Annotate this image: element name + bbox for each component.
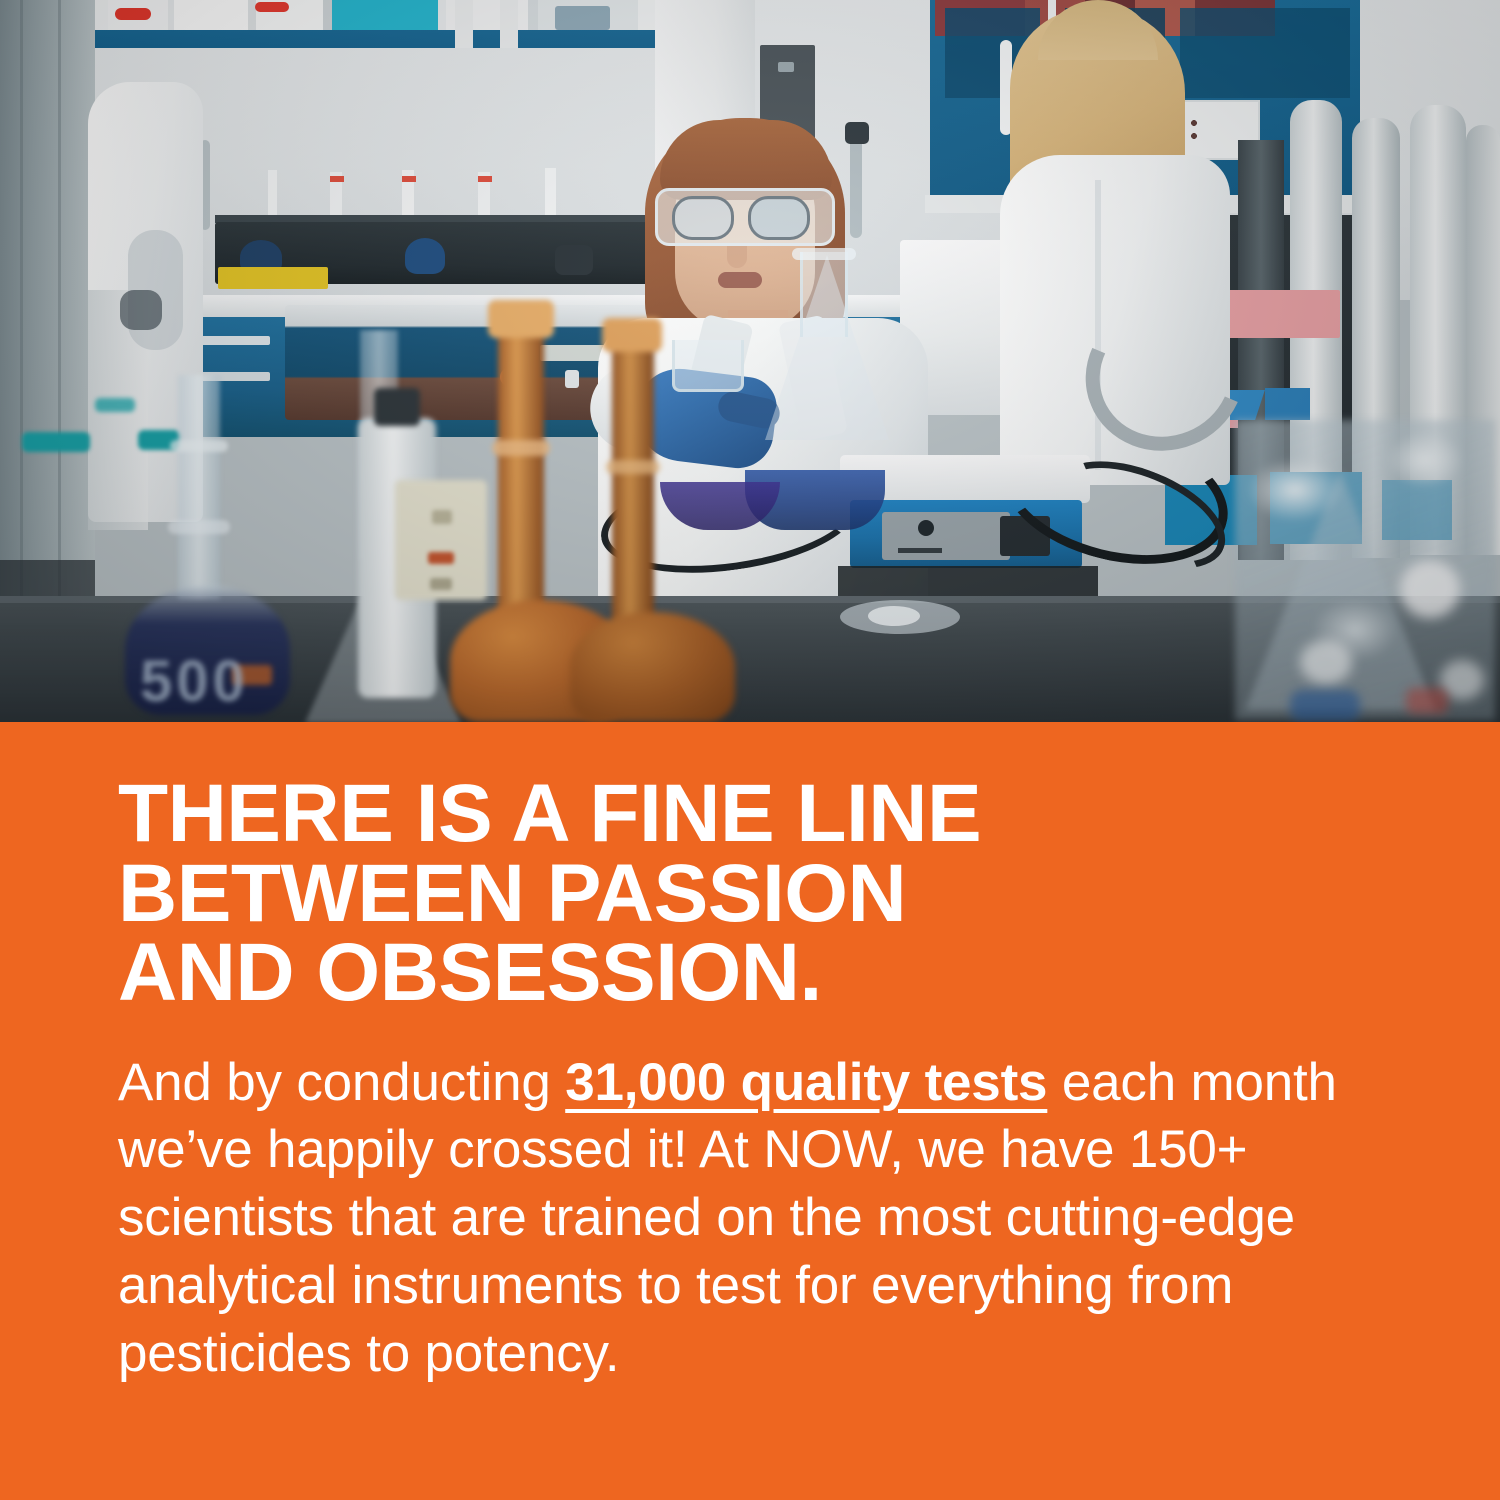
- body-copy-before: And by conducting: [118, 1053, 565, 1112]
- scientist-center-nose: [727, 244, 747, 268]
- scientist-left-glove: [120, 290, 162, 330]
- support-rod-clamp: [845, 122, 869, 144]
- instrument-platform-base: [838, 566, 1098, 596]
- instrument-switch: [565, 370, 579, 388]
- pipette-marker-3: [478, 176, 492, 182]
- support-rod-right: [850, 128, 862, 238]
- wall-socket-red-switch: [428, 552, 454, 564]
- goggle-lens-left: [672, 196, 734, 240]
- instrument-platform-dial: [918, 520, 934, 536]
- amber-flask-1-ring: [492, 440, 550, 456]
- instrument-yellow-label: [218, 267, 328, 289]
- amber-flask-2-neck: [612, 335, 654, 625]
- amber-flask-2-ring: [606, 460, 660, 474]
- teal-cap-1: [22, 432, 90, 452]
- rack-valve-3: [555, 245, 593, 275]
- red-label-2: [255, 2, 289, 12]
- shelf-tube-1: [455, 0, 473, 48]
- cabinet-glass-3: [1180, 8, 1350, 98]
- orange-content-panel: THERE IS A FINE LINE BETWEEN PASSION AND…: [0, 722, 1500, 1500]
- volumetric-flask-volume-label: 500: [140, 648, 280, 704]
- left-pillar-seam-1: [20, 0, 23, 640]
- teal-cap-3: [95, 398, 135, 412]
- wall-panel-indicator: [778, 62, 794, 72]
- wall-socket-outlet-1: [432, 510, 452, 524]
- quality-tests-highlight: 31,000 quality tests: [565, 1053, 1047, 1112]
- reagent-bottle-cap: [374, 388, 420, 426]
- pipette-marker-2: [402, 176, 416, 182]
- volumetric-flask-ring-1: [170, 440, 228, 452]
- pipette-marker-1: [330, 176, 344, 182]
- petri-dish-inner: [868, 606, 920, 626]
- erlenmeyer-neck: [800, 252, 848, 337]
- beaker: [672, 340, 744, 392]
- right-foreground-blue-cap: [1290, 690, 1360, 722]
- volumetric-flask-ring-2: [168, 520, 230, 534]
- red-label-1: [115, 8, 151, 20]
- promo-card: 500 THERE IS A FINE LINE BETWEEN PASSION…: [0, 0, 1500, 1500]
- shelf-box: [555, 6, 610, 30]
- analyzer-blue-mark: [1265, 388, 1310, 420]
- bokeh-highlight-2: [1300, 640, 1352, 684]
- body-copy: And by conducting 31,000 quality tests e…: [118, 1049, 1382, 1388]
- lab-photo: 500: [0, 0, 1500, 722]
- amber-flask-2-cap: [602, 318, 662, 352]
- wall-socket-outlet-2: [430, 578, 452, 590]
- right-foreground-red-cap: [1406, 688, 1448, 714]
- amber-flask-1-neck: [498, 320, 544, 620]
- instrument-platform-slot: [898, 548, 942, 553]
- shelf-tube-2: [500, 0, 518, 48]
- amber-flask-1-cap: [488, 300, 554, 338]
- rack-valve-2: [405, 238, 445, 274]
- erlenmeyer-lip: [792, 248, 856, 260]
- volumetric-flask-neck: [178, 375, 220, 600]
- bokeh-highlight-1: [1400, 560, 1460, 618]
- scientist-center-mouth: [718, 272, 762, 288]
- goggle-lens-right: [748, 196, 810, 240]
- amber-flask-2-body: [570, 612, 735, 722]
- left-pillar-seam-2: [58, 0, 61, 640]
- page-title: THERE IS A FINE LINE BETWEEN PASSION AND…: [118, 774, 1382, 1013]
